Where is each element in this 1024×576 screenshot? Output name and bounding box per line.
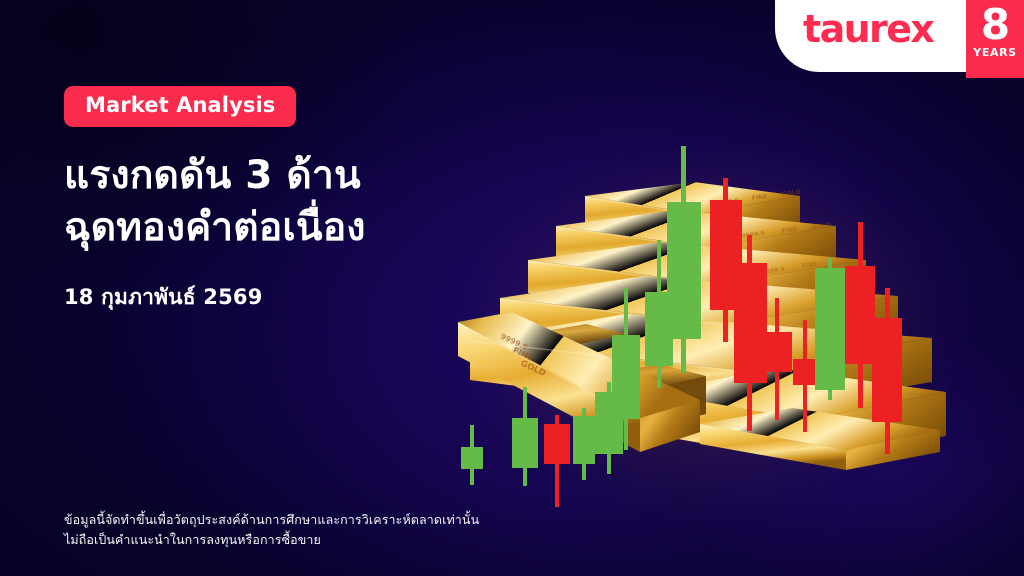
- market-analysis-banner: 9999.9 FINE GOLD 9999.9 FINE GOLD: [0, 0, 1024, 576]
- page-title: แรงกดดัน 3 ด้าน ฉุดทองคำต่อเนื่อง: [64, 150, 366, 255]
- headline-line-1: แรงกดดัน 3 ด้าน: [64, 153, 361, 198]
- market-analysis-badge: Market Analysis: [64, 86, 296, 127]
- anniversary-number: 8: [981, 6, 1009, 45]
- taurex-wordmark: taurex: [803, 10, 933, 48]
- publish-date: 18 กุมภาพันธ์ 2569: [64, 281, 263, 314]
- headline-line-2: ฉุดทองคำต่อเนื่อง: [64, 202, 366, 254]
- anniversary-badge: 8 YEARS: [966, 0, 1024, 78]
- disclaimer-line-1: ข้อมูลนี้จัดทำขึ้นเพื่อวัตถุประสงค์ด้านก…: [64, 510, 479, 530]
- anniversary-label: YEARS: [973, 46, 1016, 59]
- disclaimer-line-2: ไม่ถือเป็นคำแนะนำในการลงทุนหรือการซื้อขา…: [64, 530, 479, 550]
- disclaimer-text: ข้อมูลนี้จัดทำขึ้นเพื่อวัตถุประสงค์ด้านก…: [64, 510, 479, 549]
